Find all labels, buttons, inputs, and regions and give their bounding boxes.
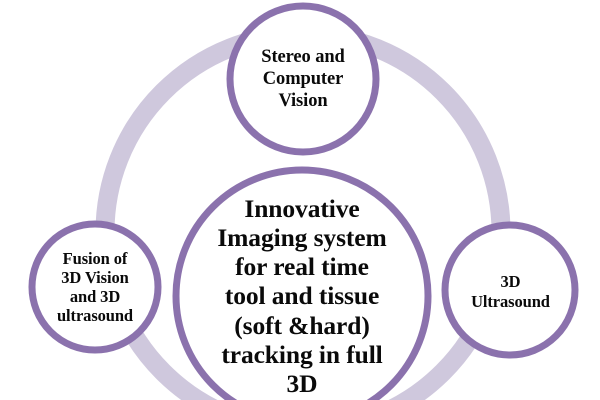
node-circle-top[interactable]: [230, 6, 376, 152]
node-circle-left[interactable]: [32, 224, 158, 350]
node-circle-right[interactable]: [445, 225, 575, 355]
node-circle-center[interactable]: [176, 170, 428, 400]
diagram-shapes: [0, 0, 600, 400]
diagram-canvas: Innovative Imaging system for real time …: [0, 0, 600, 400]
